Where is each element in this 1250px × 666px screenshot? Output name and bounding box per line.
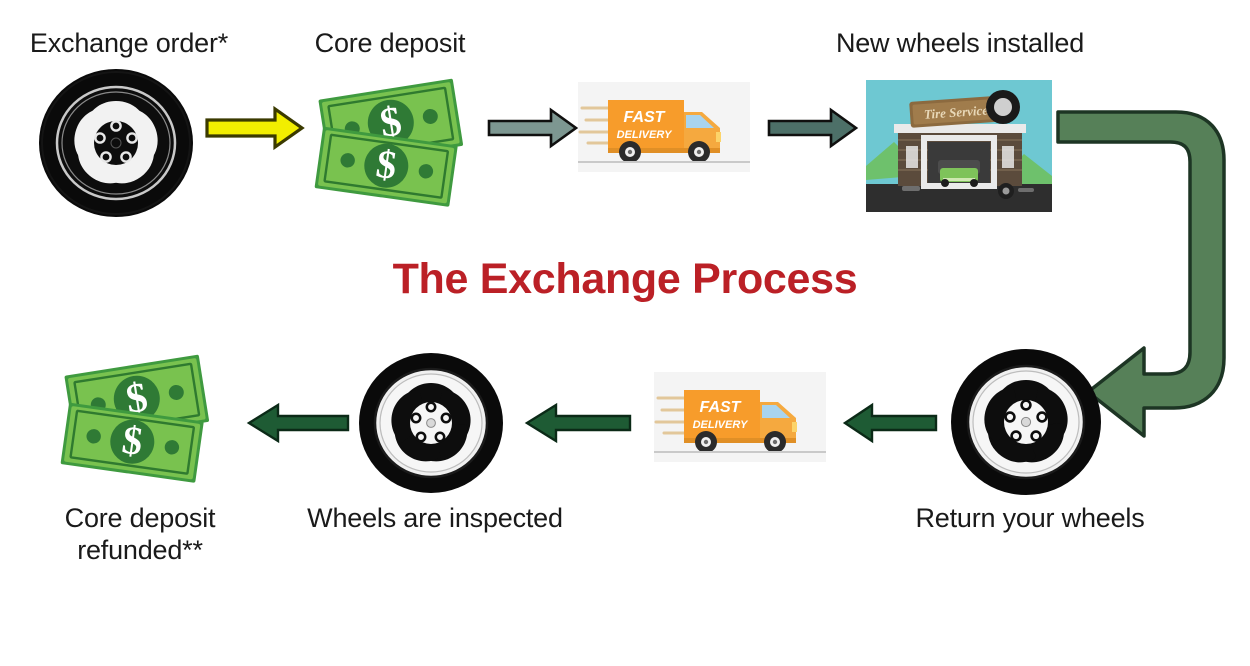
label-wheels-are-inspected: Wheels are inspected (290, 503, 580, 535)
delivery-truck-icon: FAST DELIVERY (654, 372, 826, 462)
truck-text-delivery: DELIVERY (617, 129, 673, 141)
label-new-wheels-installed: New wheels installed (800, 28, 1120, 60)
exchange-process-diagram: The Exchange Process Exchange order* (0, 0, 1250, 666)
black-wheel-icon (38, 68, 194, 218)
cash-money-icon: $ $ (58, 348, 226, 480)
footnote-left-1: *Please send us a picture of your wheel. (30, 646, 348, 666)
silver-wheel-icon (358, 352, 504, 494)
arrow-return-to-truck (842, 403, 938, 443)
cash-money-icon: $ $ (312, 72, 480, 204)
arrow-inspected-to-refund (246, 403, 350, 443)
label-return-your-wheels: Return your wheels (870, 503, 1190, 535)
footnotes-left: *Please send us a picture of your wheel.… (30, 595, 348, 666)
label-exchange-order: Exchange order* (14, 28, 244, 60)
truck-text-fast: FAST (624, 109, 666, 126)
arrow-deposit-to-truck (487, 107, 579, 149)
label-core-deposit-refunded: Core deposit refunded** (30, 503, 250, 567)
tire-service-shop-icon: Tire Service (866, 80, 1052, 212)
footnotes-right: -Same size same spoke pattern -No chrome… (858, 595, 1188, 666)
footnote-right-1: -Same size same spoke pattern (858, 646, 1188, 666)
label-core-deposit: Core deposit (290, 28, 490, 60)
arrow-truck-to-shop (767, 107, 859, 149)
truck-text-delivery: DELIVERY (693, 419, 749, 431)
truck-text-fast: FAST (700, 399, 742, 416)
silver-wheel-icon (950, 348, 1102, 496)
arrow-truck-to-inspected (524, 403, 632, 443)
delivery-truck-icon: FAST DELIVERY (578, 82, 750, 172)
arrow-order-to-deposit (205, 107, 305, 149)
